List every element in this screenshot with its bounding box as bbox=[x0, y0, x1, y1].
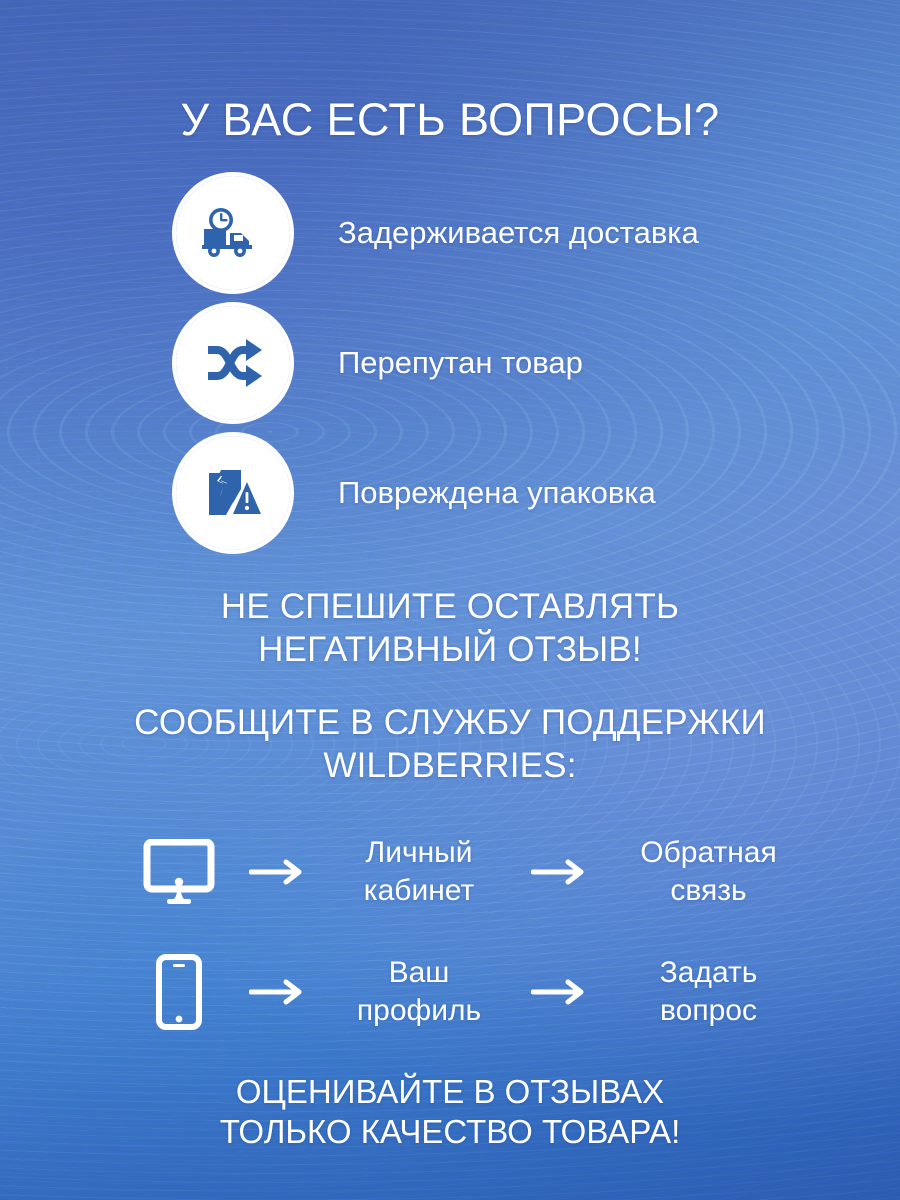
desktop-monitor-icon bbox=[136, 839, 222, 905]
flow-step-line2: связь bbox=[616, 872, 801, 910]
issue-list: Задерживается доставка Перепутан товар bbox=[176, 168, 699, 558]
damaged-box-warning-icon bbox=[176, 436, 290, 550]
shuffle-arrows-icon bbox=[176, 306, 290, 420]
flow-row-mobile: Ваш профиль Задать вопрос bbox=[0, 932, 900, 1052]
support-flow-diagram: Личный кабинет Обратная связь bbox=[0, 812, 900, 1052]
delivery-truck-clock-icon bbox=[176, 176, 290, 290]
flow-step-personal-account: Личный кабинет bbox=[334, 834, 504, 911]
arrow-right-icon bbox=[222, 979, 334, 1005]
page-title: У ВАС ЕСТЬ ВОПРОСЫ? bbox=[0, 96, 900, 143]
flow-step-feedback: Обратная связь bbox=[616, 834, 801, 911]
list-item-label: Перепутан товар bbox=[338, 345, 583, 381]
poster-content: У ВАС ЕСТЬ ВОПРОСЫ? bbox=[0, 0, 900, 1200]
warning-headline: НЕ СПЕШИТЕ ОСТАВЛЯТЬ НЕГАТИВНЫЙ ОТЗЫВ! bbox=[0, 586, 900, 671]
flow-step-line1: Ваш bbox=[334, 954, 504, 992]
flow-step-line1: Обратная bbox=[616, 834, 801, 872]
promo-poster: У ВАС ЕСТЬ ВОПРОСЫ? bbox=[0, 0, 900, 1200]
list-item: Задерживается доставка bbox=[176, 168, 699, 298]
support-headline-line2: WILDBERRIES: bbox=[0, 745, 900, 788]
support-headline-line1: СООБЩИТЕ В СЛУЖБУ ПОДДЕРЖКИ bbox=[0, 702, 900, 745]
flow-step-ask-question: Задать вопрос bbox=[616, 954, 801, 1031]
flow-step-line1: Личный bbox=[334, 834, 504, 872]
list-item: Повреждена упаковка bbox=[176, 428, 699, 558]
flow-row-desktop: Личный кабинет Обратная связь bbox=[0, 812, 900, 932]
footer-message: ОЦЕНИВАЙТЕ В ОТЗЫВАХ ТОЛЬКО КАЧЕСТВО ТОВ… bbox=[0, 1072, 900, 1153]
flow-step-line1: Задать bbox=[616, 954, 801, 992]
warning-headline-line1: НЕ СПЕШИТЕ ОСТАВЛЯТЬ bbox=[0, 586, 900, 629]
flow-step-your-profile: Ваш профиль bbox=[334, 954, 504, 1031]
footer-line2: ТОЛЬКО КАЧЕСТВО ТОВАРА! bbox=[0, 1112, 900, 1152]
flow-step-line2: вопрос bbox=[616, 992, 801, 1030]
list-item-label: Повреждена упаковка bbox=[338, 475, 656, 511]
flow-step-line2: профиль bbox=[334, 992, 504, 1030]
flow-step-line2: кабинет bbox=[334, 872, 504, 910]
warning-headline-line2: НЕГАТИВНЫЙ ОТЗЫВ! bbox=[0, 629, 900, 672]
list-item-label: Задерживается доставка bbox=[338, 215, 699, 251]
arrow-right-icon bbox=[504, 859, 616, 885]
mobile-phone-icon bbox=[136, 954, 222, 1030]
footer-line1: ОЦЕНИВАЙТЕ В ОТЗЫВАХ bbox=[0, 1072, 900, 1112]
arrow-right-icon bbox=[222, 859, 334, 885]
list-item: Перепутан товар bbox=[176, 298, 699, 428]
support-headline: СООБЩИТЕ В СЛУЖБУ ПОДДЕРЖКИ WILDBERRIES: bbox=[0, 702, 900, 787]
arrow-right-icon bbox=[504, 979, 616, 1005]
